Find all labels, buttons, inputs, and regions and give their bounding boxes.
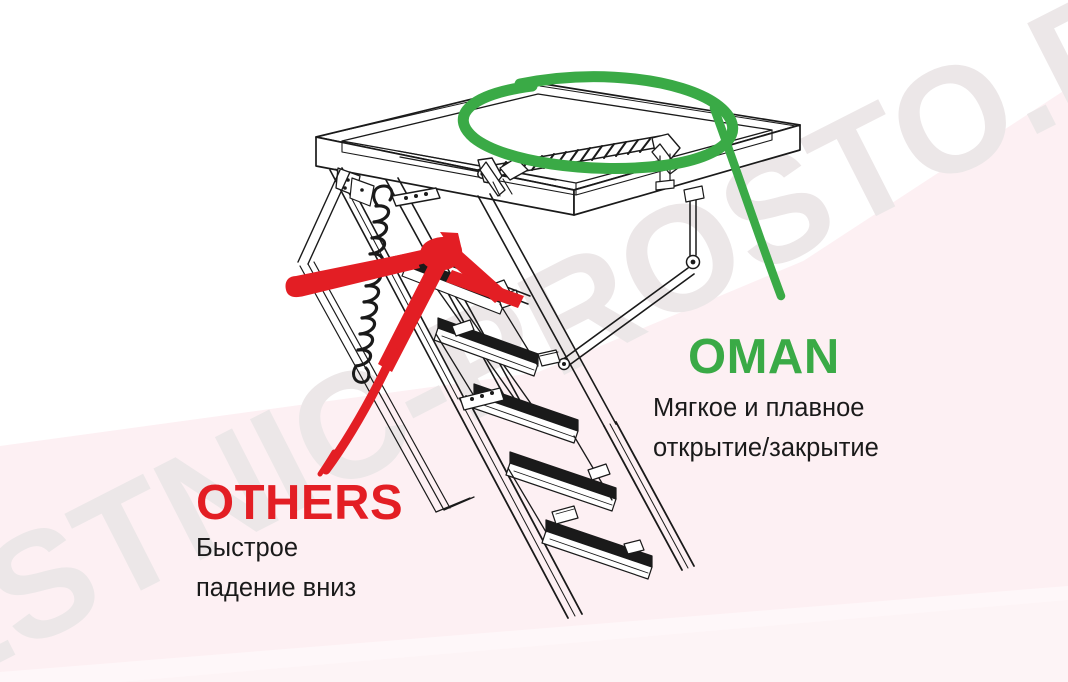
oman-heading: OMAN <box>688 333 840 382</box>
others-heading: OTHERS <box>196 479 403 528</box>
green-leader-line <box>714 108 781 296</box>
annotation-layer <box>0 0 1068 682</box>
oman-description-line-1: Мягкое и плавное <box>653 396 864 422</box>
infographic-page: LESTNIC-PROSTO.RU <box>0 0 1068 682</box>
others-description-line-2: падение вниз <box>196 576 356 602</box>
oman-description-line-2: открытие/закрытие <box>653 436 879 462</box>
others-description-line-1: Быстрое <box>196 536 298 562</box>
red-arrow <box>285 232 524 474</box>
green-highlight-ellipse <box>463 77 732 169</box>
